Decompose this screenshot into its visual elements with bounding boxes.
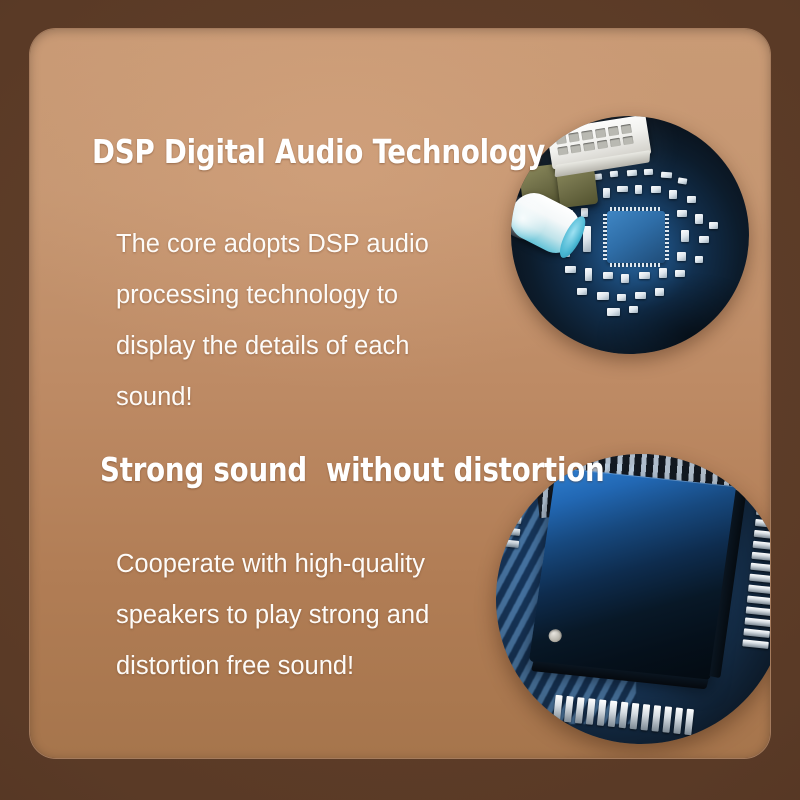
smd-component xyxy=(577,288,587,295)
smd-component xyxy=(585,268,592,281)
smd-component xyxy=(603,188,610,198)
pin-one-dot-icon xyxy=(548,629,563,643)
smd-component xyxy=(709,222,718,229)
smd-component xyxy=(695,214,703,224)
smd-component xyxy=(659,268,667,278)
smd-component xyxy=(597,292,609,300)
chip-pin-row-left xyxy=(603,214,607,260)
section-2-body-text: Cooperate with high-quality speakers to … xyxy=(116,539,496,692)
section-2-heading: Strong sound without distortion xyxy=(100,450,604,489)
chip-pin-row-top xyxy=(610,207,662,211)
smd-component xyxy=(651,186,661,193)
smd-component xyxy=(695,256,703,263)
smd-component xyxy=(607,308,620,316)
smd-component xyxy=(629,306,638,313)
smd-component xyxy=(635,185,642,194)
smd-component xyxy=(635,292,646,299)
smd-component xyxy=(639,272,650,279)
smd-component xyxy=(699,236,709,243)
smd-component xyxy=(621,274,629,283)
qfp-chip-body xyxy=(529,467,737,680)
chip-pin-row-right xyxy=(665,214,669,260)
smd-component xyxy=(610,171,618,178)
smd-component xyxy=(644,169,653,175)
smd-component xyxy=(661,172,672,179)
smd-component xyxy=(678,177,688,184)
smd-component xyxy=(675,270,685,277)
dsp-main-chip xyxy=(607,211,665,263)
qfp-amplifier-chip-photo xyxy=(496,454,770,744)
smd-component xyxy=(655,288,664,296)
gull-wing-pin-row-right xyxy=(742,497,770,649)
poster-inner-panel: DSP Digital Audio Technology The core ad… xyxy=(30,29,770,758)
smd-component xyxy=(565,266,576,273)
smd-component xyxy=(627,170,637,177)
chip-right-edge xyxy=(709,490,746,679)
white-pin-header-connector xyxy=(546,116,651,170)
smd-component xyxy=(681,230,689,242)
smd-component xyxy=(677,210,687,217)
smd-component xyxy=(617,294,626,301)
section-1-body-text: The core adopts DSP audio processing tec… xyxy=(116,219,496,423)
smd-component xyxy=(617,186,628,192)
smd-component xyxy=(677,252,686,261)
round-dsp-circuit-board-photo xyxy=(511,116,749,354)
section-1-heading: DSP Digital Audio Technology xyxy=(92,132,545,171)
smd-component xyxy=(669,190,677,199)
chip-pin-row-bottom xyxy=(610,263,662,267)
product-feature-poster: DSP Digital Audio Technology The core ad… xyxy=(0,0,800,800)
smd-component xyxy=(687,196,696,203)
smd-component xyxy=(603,272,613,279)
